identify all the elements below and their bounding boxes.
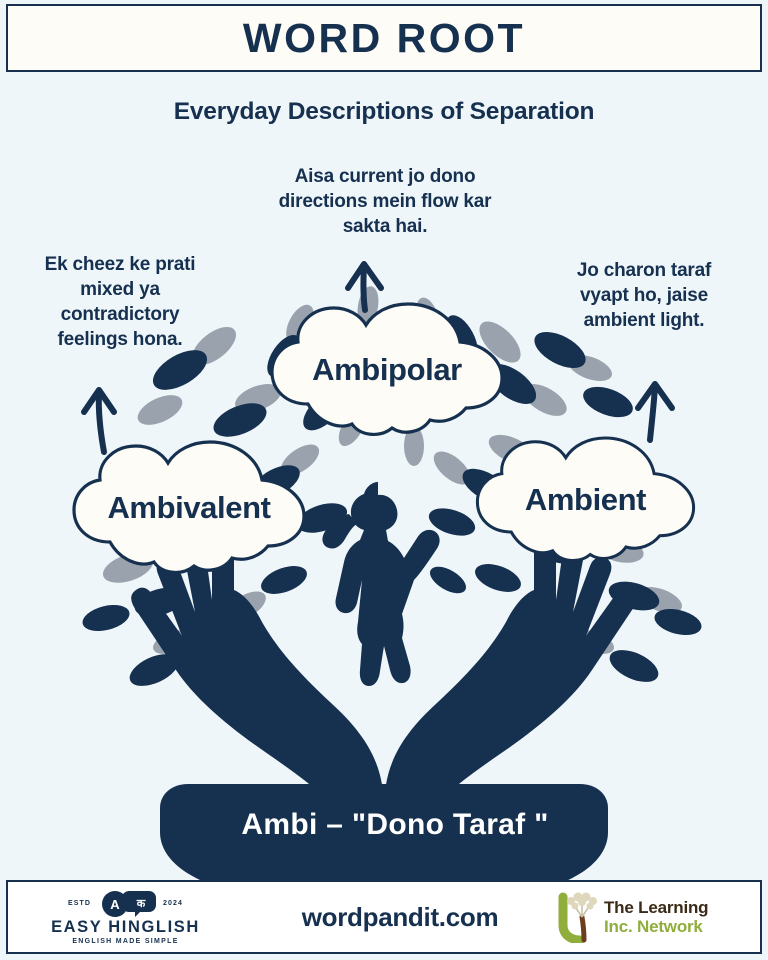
- root-label: Ambi – "Dono Taraf ": [155, 808, 635, 842]
- description-line: vyapt ho, jaise: [535, 283, 753, 308]
- estd-label: ESTD: [68, 900, 91, 907]
- description-ambivalent: Ek cheez ke prati mixed ya contradictory…: [4, 252, 236, 352]
- description-line: feelings hona.: [4, 327, 236, 352]
- website-url[interactable]: wordpandit.com: [243, 902, 557, 933]
- speech-bubbles-icon: क A: [97, 889, 157, 919]
- word-label-ambipolar: Ambipolar: [312, 352, 462, 388]
- description-line: ambient light.: [535, 308, 753, 333]
- word-bubble-ambivalent[interactable]: Ambivalent: [64, 438, 314, 578]
- word-bubble-ambient[interactable]: Ambient: [468, 432, 703, 568]
- network-name-line2: Inc. Network: [604, 917, 708, 936]
- svg-text:क: क: [136, 898, 146, 910]
- header-box: WORD ROOT: [6, 4, 762, 72]
- infographic-page: WORD ROOT Everyday Descriptions of Separ…: [0, 0, 768, 960]
- tree-u-logo-icon: [557, 891, 599, 943]
- description-line: Jo charon taraf: [535, 258, 753, 283]
- description-ambient: Jo charon taraf vyapt ho, jaise ambient …: [535, 258, 753, 333]
- network-name-line1: The Learning: [604, 898, 708, 917]
- description-line: Aisa current jo dono: [235, 164, 535, 189]
- page-subtitle: Everyday Descriptions of Separation: [0, 98, 768, 126]
- description-line: directions mein flow kar: [235, 189, 535, 214]
- svg-text:A: A: [110, 897, 120, 912]
- page-title: WORD ROOT: [243, 15, 525, 62]
- year-label: 2024: [163, 900, 183, 907]
- description-line: contradictory: [4, 302, 236, 327]
- word-label-ambient: Ambient: [525, 482, 646, 518]
- word-label-ambivalent: Ambivalent: [107, 490, 270, 526]
- brand-name: EASY HINGLISH: [51, 919, 200, 936]
- footer-bar: ESTD क A 2024 EASY HINGLISH ENGLISH MADE…: [6, 880, 762, 954]
- brand-tagline: ENGLISH MADE SIMPLE: [72, 938, 178, 945]
- description-line: sakta hai.: [235, 214, 535, 239]
- word-bubble-ambipolar[interactable]: Ambipolar: [262, 300, 512, 440]
- learning-network-logo: The Learning Inc. Network: [557, 891, 760, 943]
- description-line: mixed ya: [4, 277, 236, 302]
- description-ambipolar: Aisa current jo dono directions mein flo…: [235, 164, 535, 239]
- logo-bubbles-row: ESTD क A 2024: [68, 889, 183, 919]
- easy-hinglish-logo: ESTD क A 2024 EASY HINGLISH ENGLISH MADE…: [8, 889, 243, 945]
- network-logo-text: The Learning Inc. Network: [604, 898, 708, 936]
- description-line: Ek cheez ke prati: [4, 252, 236, 277]
